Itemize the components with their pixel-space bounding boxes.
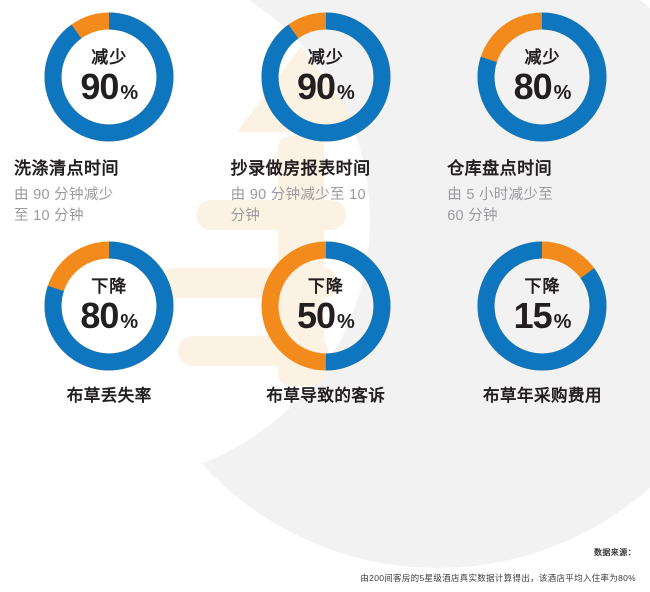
donut-number: 50 — [297, 298, 335, 334]
metric-subtitle: 由 5 小时减少至 60 分钟 — [447, 185, 638, 227]
metric-subtitle-line2: 至 10 分钟 — [14, 206, 205, 227]
donut-chart-linen-annual-cost: 下降 15 % — [477, 241, 607, 371]
metric-subtitle-line2: 60 分钟 — [447, 206, 638, 227]
donut-number: 80 — [80, 298, 118, 334]
metrics-row-2: 下降 80 % 布草丢失率 — [0, 227, 650, 407]
donut-center: 减少 90 % — [44, 12, 174, 142]
metric-subtitle-line1: 由 90 分钟减少 — [14, 185, 205, 206]
donut-verb: 减少 — [308, 49, 344, 66]
donut-wrap: 减少 90 % — [14, 12, 205, 142]
donut-wrap: 下降 80 % — [14, 241, 205, 371]
data-source-text: 由200间客房的5星级酒店真实数据计算得出，该酒店平均入住率为80% — [0, 572, 650, 584]
donut-wrap: 减少 80 % — [447, 12, 638, 142]
metrics-row-1: 减少 90 % 洗涤清点时间 由 90 分钟减少 至 10 分钟 — [0, 0, 650, 227]
donut-verb: 下降 — [308, 278, 344, 295]
donut-wrap: 下降 50 % — [231, 241, 422, 371]
donut-percent-sign: % — [337, 312, 355, 332]
donut-percent-sign: % — [120, 312, 138, 332]
donut-verb: 下降 — [91, 278, 127, 295]
donut-number: 90 — [80, 69, 118, 105]
metric-card-linen-loss-rate: 下降 80 % 布草丢失率 — [0, 241, 217, 407]
metric-subtitle-line2: 分钟 — [231, 206, 422, 227]
donut-percent-sign: % — [554, 83, 572, 103]
donut-center: 下降 80 % — [44, 241, 174, 371]
donut-chart-linen-complaints: 下降 50 % — [261, 241, 391, 371]
metric-card-linen-complaints: 下降 50 % 布草导致的客诉 — [217, 241, 434, 407]
data-source-label: 数据来源： — [0, 547, 650, 558]
donut-value: 80 % — [80, 298, 138, 334]
donut-number: 15 — [514, 298, 552, 334]
donut-value: 50 % — [297, 298, 355, 334]
metric-card-warehouse-count-time: 减少 80 % 仓库盘点时间 由 5 小时减少至 60 分钟 — [433, 12, 650, 227]
metric-subtitle: 由 90 分钟减少 至 10 分钟 — [14, 185, 205, 227]
metric-title: 仓库盘点时间 — [447, 159, 638, 179]
donut-center: 下降 15 % — [477, 241, 607, 371]
metric-title: 布草年采购费用 — [447, 387, 638, 407]
donut-value: 90 % — [297, 69, 355, 105]
metric-title: 布草导致的客诉 — [231, 387, 422, 407]
metric-title: 洗涤清点时间 — [14, 159, 205, 179]
donut-center: 减少 80 % — [477, 12, 607, 142]
metric-card-linen-annual-cost: 下降 15 % 布草年采购费用 — [433, 241, 650, 407]
footer: 数据来源： 由200间客房的5星级酒店真实数据计算得出，该酒店平均入住率为80% — [0, 547, 650, 584]
donut-center: 下降 50 % — [261, 241, 391, 371]
donut-wrap: 下降 15 % — [447, 241, 638, 371]
donut-percent-sign: % — [337, 83, 355, 103]
infographic-body: 减少 90 % 洗涤清点时间 由 90 分钟减少 至 10 分钟 — [0, 0, 650, 592]
donut-chart-warehouse-count-time: 减少 80 % — [477, 12, 607, 142]
donut-number: 90 — [297, 69, 335, 105]
donut-chart-room-report-time: 减少 90 % — [261, 12, 391, 142]
metric-title: 抄录做房报表时间 — [231, 159, 422, 179]
donut-chart-wash-count-time: 减少 90 % — [44, 12, 174, 142]
donut-value: 15 % — [514, 298, 572, 334]
metric-card-wash-count-time: 减少 90 % 洗涤清点时间 由 90 分钟减少 至 10 分钟 — [0, 12, 217, 227]
donut-percent-sign: % — [554, 312, 572, 332]
donut-wrap: 减少 90 % — [231, 12, 422, 142]
donut-percent-sign: % — [120, 83, 138, 103]
metric-subtitle-line1: 由 90 分钟减少至 10 — [231, 185, 422, 206]
metric-title: 布草丢失率 — [14, 387, 205, 407]
donut-verb: 减少 — [524, 49, 560, 66]
donut-verb: 减少 — [91, 49, 127, 66]
donut-value: 80 % — [514, 69, 572, 105]
donut-chart-linen-loss-rate: 下降 80 % — [44, 241, 174, 371]
donut-verb: 下降 — [524, 278, 560, 295]
donut-value: 90 % — [80, 69, 138, 105]
metric-subtitle-line1: 由 5 小时减少至 — [447, 185, 638, 206]
metric-card-room-report-time: 减少 90 % 抄录做房报表时间 由 90 分钟减少至 10 分钟 — [217, 12, 434, 227]
donut-number: 80 — [514, 69, 552, 105]
donut-center: 减少 90 % — [261, 12, 391, 142]
metric-subtitle: 由 90 分钟减少至 10 分钟 — [231, 185, 422, 227]
